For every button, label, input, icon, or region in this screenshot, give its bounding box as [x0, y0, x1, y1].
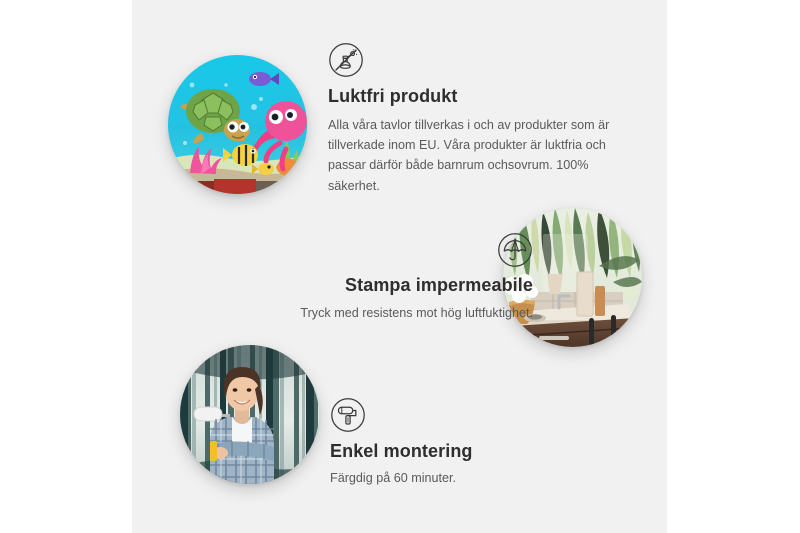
feature-title: Luktfri produkt — [328, 86, 628, 108]
feature-body: Tryck med resistens mot hög luftfuktighe… — [188, 303, 533, 323]
page-root: Luktfri produkt Alla våra tavlor tillver… — [0, 0, 800, 533]
content-stage: Luktfri produkt Alla våra tavlor tillver… — [132, 0, 667, 533]
feature-waterproof: Stampa impermeabile Tryck med resistens … — [188, 232, 533, 323]
feature-odourless: Luktfri produkt Alla våra tavlor tillver… — [328, 42, 628, 196]
feature-title: Enkel montering — [330, 441, 630, 463]
feature-body: Färgdig på 60 minuter. — [330, 468, 630, 488]
paint-roller-icon — [330, 397, 366, 433]
umbrella-icon — [497, 232, 533, 268]
painter-forest-wallpaper-photo[interactable] — [180, 345, 319, 484]
feature-body: Alla våra tavlor tillverkas i och av pro… — [328, 115, 628, 197]
feature-title: Stampa impermeabile — [188, 275, 533, 297]
feature-assembly: Enkel montering Färgdig på 60 minuter. — [330, 397, 630, 488]
no-fragrance-icon — [328, 42, 364, 78]
underwater-cartoon-mural-photo[interactable] — [168, 55, 307, 194]
